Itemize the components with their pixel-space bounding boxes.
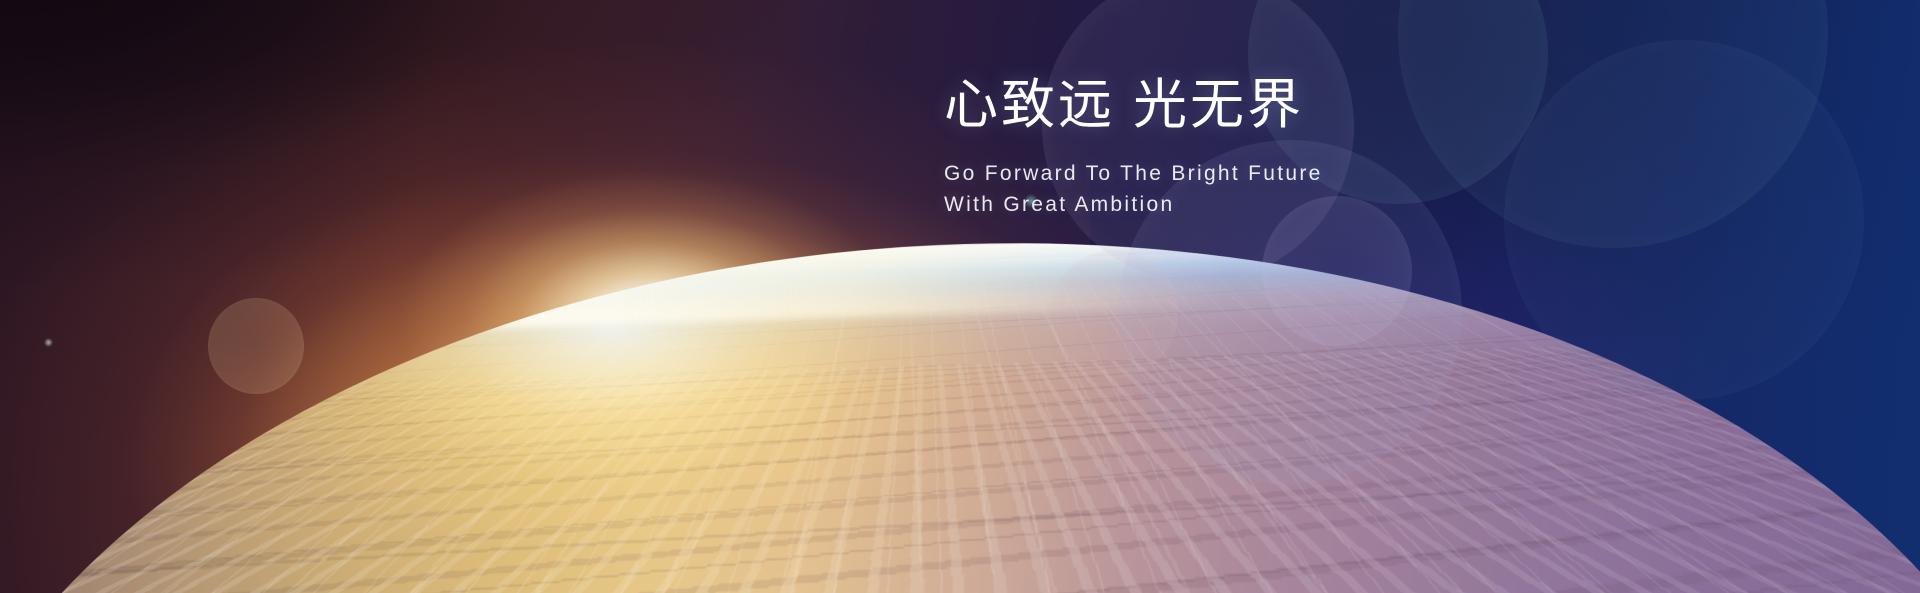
- earth-horizon: [0, 212, 1920, 593]
- banner-subtitle-line-2: With Great Ambition: [944, 189, 1504, 220]
- banner-copy: 心致远 光无界 Go Forward To The Bright Future …: [944, 74, 1504, 220]
- banner-subtitle-line-1: Go Forward To The Bright Future: [944, 158, 1504, 189]
- banner-headline: 心致远 光无界: [944, 74, 1504, 136]
- hero-banner: 心致远 光无界 Go Forward To The Bright Future …: [0, 0, 1920, 593]
